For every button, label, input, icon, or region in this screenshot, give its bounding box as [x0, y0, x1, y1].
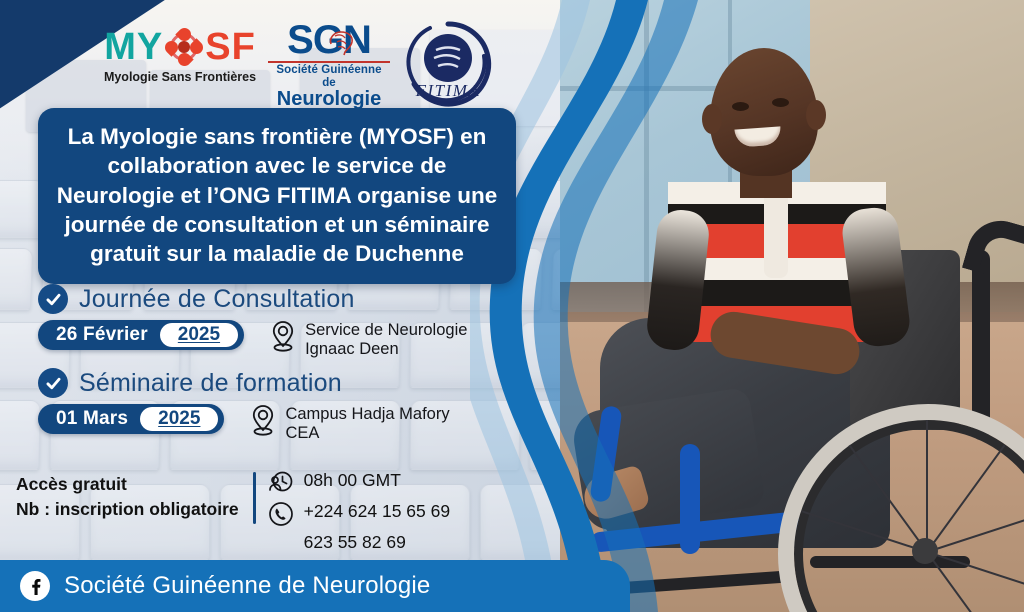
seat	[0, 400, 41, 470]
date-day: 01 Mars	[56, 408, 128, 430]
sgn-line1: Société Guinéenne de	[268, 64, 390, 89]
sgn-wordmark: SGN	[287, 20, 371, 60]
date-year: 2025	[160, 323, 238, 347]
place-line-1: Service de Neurologie	[305, 321, 467, 339]
time-row: 08h 00 GMT	[268, 470, 450, 496]
seat	[0, 248, 33, 310]
event-title: Séminaire de formation	[79, 369, 342, 398]
map-pin-icon	[270, 320, 296, 352]
divider	[253, 472, 256, 524]
wave-divider	[470, 0, 700, 612]
myosf-sf-text: SF	[205, 28, 256, 66]
fitima-circle-icon: FITIMA	[400, 18, 496, 110]
map-pin-icon	[250, 404, 276, 436]
myosf-subtitle: Myologie Sans Frontières	[100, 70, 260, 84]
event-title: Journée de Consultation	[79, 285, 355, 314]
poster-root: MY SF Myologie Sans Frontières SGN	[0, 0, 1024, 612]
date-badge: 01 Mars 2025	[38, 404, 224, 434]
phone-number-2[interactable]: 623 55 82 69	[304, 532, 450, 553]
event-place-text: Service de Neurologie Ignaac Deen	[305, 320, 467, 360]
brain-icon	[327, 28, 357, 56]
check-icon	[38, 284, 68, 314]
phone-icon[interactable]	[268, 501, 294, 527]
event-time: 08h 00 GMT	[304, 470, 401, 492]
myosf-wordmark: MY SF	[100, 28, 260, 66]
access-info: Accès gratuit Nb : inscription obligatoi…	[16, 470, 239, 523]
event-block-seminaire: Séminaire de formation 01 Mars 2025 Camp…	[38, 368, 450, 444]
headline-box: La Myologie sans frontière (MYOSF) en co…	[38, 108, 516, 284]
clock-person-icon	[268, 470, 294, 496]
footer-page-name: Société Guinéenne de Neurologie	[64, 572, 430, 600]
event-location: Campus Hadja Mafory CEA	[250, 404, 449, 444]
logo-myosf: MY SF Myologie Sans Frontières	[100, 28, 260, 84]
flower-icon	[165, 28, 203, 66]
fitima-text: FITIMA	[415, 81, 481, 100]
event-location: Service de Neurologie Ignaac Deen	[270, 320, 467, 360]
event-block-consultation: Journée de Consultation 26 Février 2025 …	[38, 284, 467, 360]
myosf-my-text: MY	[104, 28, 163, 66]
phone-number-1[interactable]: +224 624 15 65 69	[304, 501, 450, 523]
access-line-1: Accès gratuit	[16, 472, 239, 497]
footer-bar[interactable]: Société Guinéenne de Neurologie	[0, 560, 560, 612]
date-day: 26 Février	[56, 324, 148, 346]
access-line-2: Nb : inscription obligatoire	[16, 497, 239, 522]
place-line-2: CEA	[285, 424, 319, 442]
logo-fitima: FITIMA	[400, 18, 496, 110]
logo-sgn: SGN Société Guinéenne de Neurologie	[268, 20, 390, 114]
phone-row: +224 624 15 65 69	[268, 501, 450, 527]
facebook-icon[interactable]	[20, 571, 50, 601]
date-badge: 26 Février 2025	[38, 320, 244, 350]
contact-section: Accès gratuit Nb : inscription obligatoi…	[16, 470, 450, 553]
check-icon	[38, 368, 68, 398]
event-place-text: Campus Hadja Mafory CEA	[285, 404, 449, 444]
date-year: 2025	[140, 407, 218, 431]
place-line-2: Ignaac Deen	[305, 340, 399, 358]
place-line-1: Campus Hadja Mafory	[285, 405, 449, 423]
